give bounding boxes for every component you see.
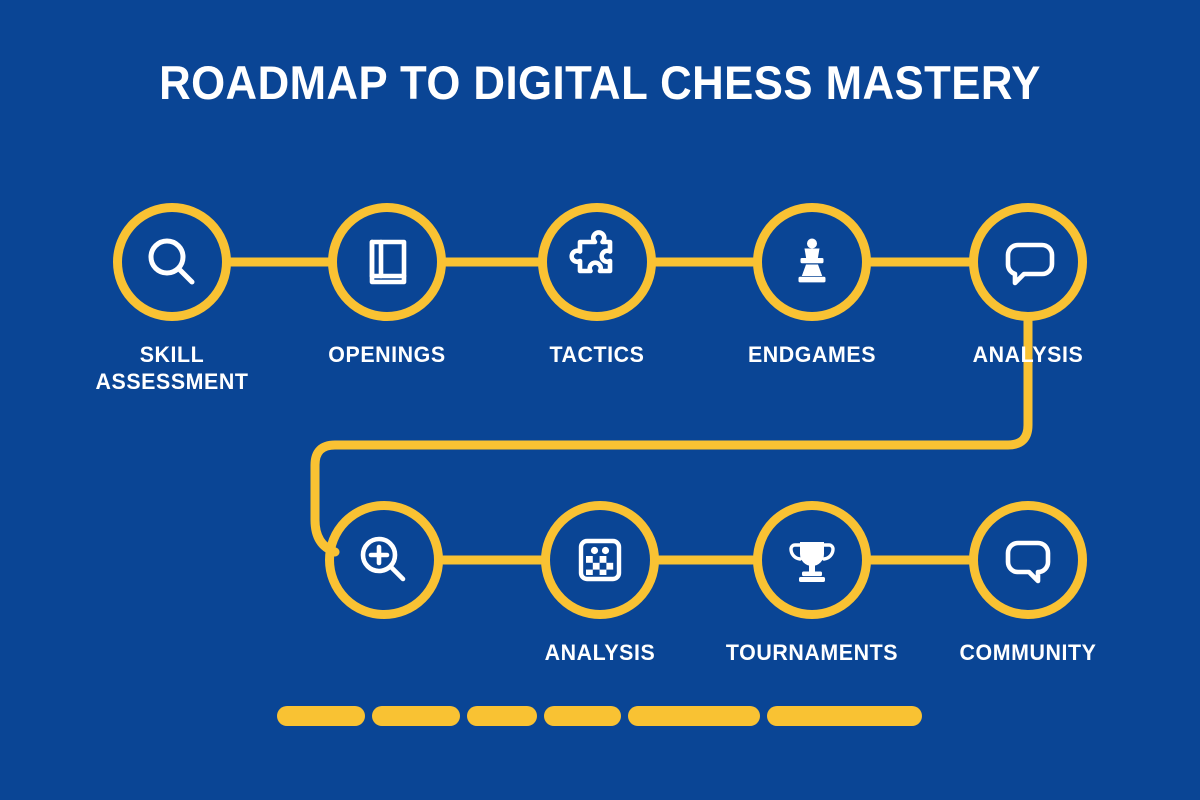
label-analysis-top: ANALYSIS (895, 341, 1161, 368)
infographic-canvas: ROADMAP TO DIGITAL CHESS MASTERY (0, 0, 1200, 800)
node-tactics[interactable] (538, 203, 656, 321)
chessboard-icon (569, 529, 631, 591)
node-community[interactable] (969, 501, 1087, 619)
label-community: COMMUNITY (895, 639, 1161, 666)
progress-bar-segment[interactable] (767, 706, 922, 726)
speech-bubble-icon (997, 231, 1059, 293)
node-skill-assessment[interactable] (113, 203, 231, 321)
magnifier-icon (141, 231, 203, 293)
chess-king-icon (781, 231, 843, 293)
connector-lines (0, 0, 1200, 800)
node-tournaments[interactable] (753, 501, 871, 619)
node-openings[interactable] (328, 203, 446, 321)
progress-bar-segment[interactable] (372, 706, 460, 726)
book-icon (356, 231, 418, 293)
trophy-icon (781, 529, 843, 591)
progress-bar-segment[interactable] (467, 706, 537, 726)
progress-bar-segment[interactable] (544, 706, 621, 726)
node-analysis-top[interactable] (969, 203, 1087, 321)
progress-bar-segment[interactable] (277, 706, 365, 726)
node-deep-analysis[interactable] (325, 501, 443, 619)
speech-bubble-icon (997, 529, 1059, 591)
node-endgames[interactable] (753, 203, 871, 321)
puzzle-piece-icon (566, 231, 628, 293)
zoom-in-icon (353, 529, 415, 591)
progress-bar-segment[interactable] (628, 706, 760, 726)
node-analysis-bottom[interactable] (541, 501, 659, 619)
